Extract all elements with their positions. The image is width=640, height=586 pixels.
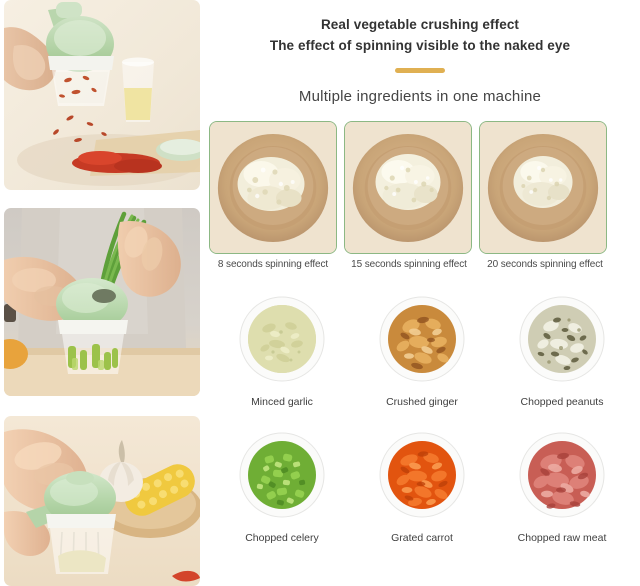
ingredient-row-2: Chopped celery bbox=[212, 432, 632, 544]
panel-spinning-effect-20s bbox=[479, 121, 607, 254]
product-infographic: Real vegetable crushing effect The effec… bbox=[0, 0, 640, 586]
bowl-minced-garlic bbox=[239, 296, 325, 382]
ingredient-chopped-celery: Chopped celery bbox=[212, 432, 352, 544]
heading-block: Real vegetable crushing effect The effec… bbox=[200, 14, 640, 56]
ingredient-grated-carrot: Grated carrot bbox=[352, 432, 492, 544]
ingredient-crushed-ginger: Crushed ginger bbox=[352, 296, 492, 408]
photo-chopper-with-garlic-and-corn bbox=[4, 416, 200, 586]
label-crushed-ginger: Crushed ginger bbox=[386, 396, 458, 408]
label-minced-garlic: Minced garlic bbox=[251, 396, 313, 408]
label-chopped-raw-meat: Chopped raw meat bbox=[518, 532, 607, 544]
content-column: Real vegetable crushing effect The effec… bbox=[200, 0, 640, 586]
spinning-effect-panels bbox=[209, 121, 607, 254]
photo-chopper-with-green-onions bbox=[4, 208, 200, 396]
caption-spinning-effect-20s: 20 seconds spinning effect bbox=[477, 259, 613, 270]
panel-spinning-effect-15s bbox=[344, 121, 472, 254]
gold-divider bbox=[395, 68, 445, 73]
ingredient-minced-garlic: Minced garlic bbox=[212, 296, 352, 408]
label-grated-carrot: Grated carrot bbox=[391, 532, 453, 544]
bowl-chopped-peanuts bbox=[519, 296, 605, 382]
bowl-crushed-ginger bbox=[379, 296, 465, 382]
bowl-chopped-celery bbox=[239, 432, 325, 518]
heading-line-2: The effect of spinning visible to the na… bbox=[200, 35, 640, 56]
caption-spinning-effect-8s: 8 seconds spinning effect bbox=[205, 259, 341, 270]
label-chopped-celery: Chopped celery bbox=[245, 532, 319, 544]
ingredient-row-1: Minced garlic bbox=[212, 296, 632, 408]
ingredient-chopped-raw-meat: Chopped raw meat bbox=[492, 432, 632, 544]
heading-line-1: Real vegetable crushing effect bbox=[200, 14, 640, 35]
caption-spinning-effect-15s: 15 seconds spinning effect bbox=[341, 259, 477, 270]
bowl-chopped-raw-meat bbox=[519, 432, 605, 518]
panel-spinning-effect-8s bbox=[209, 121, 337, 254]
photo-chopper-over-chili-peppers bbox=[4, 0, 200, 190]
panel-captions: 8 seconds spinning effect 15 seconds spi… bbox=[205, 259, 615, 270]
subheading: Multiple ingredients in one machine bbox=[200, 88, 640, 105]
bowl-grated-carrot bbox=[379, 432, 465, 518]
ingredient-chopped-peanuts: Chopped peanuts bbox=[492, 296, 632, 408]
label-chopped-peanuts: Chopped peanuts bbox=[521, 396, 604, 408]
photo-column bbox=[0, 0, 200, 586]
